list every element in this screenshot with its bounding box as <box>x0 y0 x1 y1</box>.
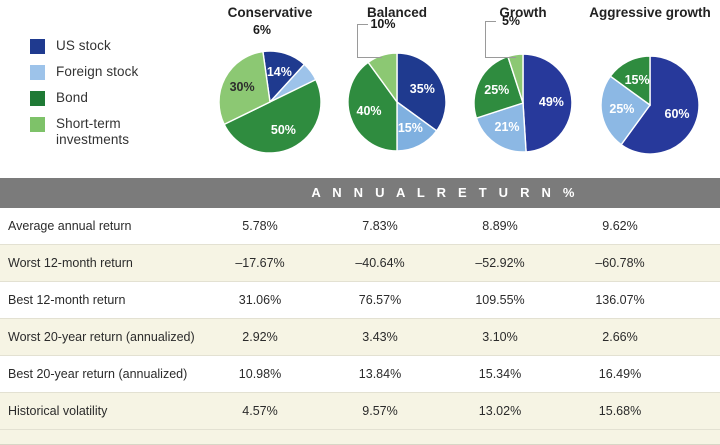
annual-return-table: A N N U A L R E T U R N % Average annual… <box>0 178 720 445</box>
legend-label-short_term: Short-terminvestments <box>56 116 129 148</box>
table-row-label: Best 12-month return <box>0 293 200 307</box>
pie-graphic-2 <box>332 0 462 172</box>
table-cell: 13.84% <box>320 367 440 381</box>
pie-leader-vertical-2 <box>357 24 358 57</box>
table-cell: 136.07% <box>560 293 680 307</box>
table-cell: –17.67% <box>200 256 320 270</box>
legend-label-us_stock: US stock <box>56 38 111 54</box>
pie-graphic-3 <box>458 0 588 172</box>
legend-swatch-us_stock <box>30 39 45 54</box>
pie-graphic-1 <box>205 0 335 172</box>
table-cell: 2.66% <box>560 330 680 344</box>
legend-label-bond: Bond <box>56 90 88 106</box>
legend-swatch-bond <box>30 91 45 106</box>
pie-slice-us-stock <box>523 54 572 152</box>
pie-leader-tip-2 <box>357 57 382 58</box>
table-row: Worst 20-year return (annualized)2.92%3.… <box>0 319 720 356</box>
table-cell: 76.57% <box>320 293 440 307</box>
table-cell: 3.43% <box>320 330 440 344</box>
table-cell: 15.68% <box>560 404 680 418</box>
legend-item-short_term: Short-terminvestments <box>30 116 205 148</box>
table-cell: 31.06% <box>200 293 320 307</box>
table-cell: 13.02% <box>440 404 560 418</box>
table-row-label: Best 20-year return (annualized) <box>0 367 200 381</box>
table-cell: 2.92% <box>200 330 320 344</box>
pie-graphic-4 <box>585 0 715 172</box>
table-cell: 109.55% <box>440 293 560 307</box>
table-row: Average annual return5.78%7.83%8.89%9.62… <box>0 208 720 245</box>
table-cell: 9.57% <box>320 404 440 418</box>
allocation-pie-charts: Conservative14%6%50%30%Balanced35%15%40%… <box>205 0 720 172</box>
table-row: Best 12-month return31.06%76.57%109.55%1… <box>0 282 720 319</box>
table-cell: 4.57% <box>200 404 320 418</box>
allocation-legend: US stockForeign stockBondShort-terminves… <box>30 38 205 158</box>
legend-item-foreign_stock: Foreign stock <box>30 64 205 80</box>
table-row-label: Average annual return <box>0 219 200 233</box>
legend-item-us_stock: US stock <box>30 38 205 54</box>
pie-leader-horizontal-2 <box>357 24 368 25</box>
table-header-title: A N N U A L R E T U R N % <box>0 178 720 208</box>
table-cell: –60.78% <box>560 256 680 270</box>
table-body: Average annual return5.78%7.83%8.89%9.62… <box>0 208 720 430</box>
pie-leader-vertical-3 <box>485 21 486 57</box>
table-cell: 8.89% <box>440 219 560 233</box>
table-footer-strip <box>0 430 720 445</box>
pie-chart-1: Conservative14%6%50%30% <box>205 0 335 172</box>
table-cell: 7.83% <box>320 219 440 233</box>
table-row: Worst 12-month return–17.67%–40.64%–52.9… <box>0 245 720 282</box>
table-header-bar: A N N U A L R E T U R N % <box>0 178 720 208</box>
table-cell: –40.64% <box>320 256 440 270</box>
table-row: Best 20-year return (annualized)10.98%13… <box>0 356 720 393</box>
table-cell: 16.49% <box>560 367 680 381</box>
table-cell: 3.10% <box>440 330 560 344</box>
table-cell: 9.62% <box>560 219 680 233</box>
table-cell: –52.92% <box>440 256 560 270</box>
table-row-label: Worst 12-month return <box>0 256 200 270</box>
pie-chart-2: Balanced35%15%40%10% <box>332 0 462 172</box>
pie-chart-3: Growth49%21%25%5% <box>458 0 588 172</box>
legend-swatch-foreign_stock <box>30 65 45 80</box>
legend-item-bond: Bond <box>30 90 205 106</box>
pie-leader-horizontal-3 <box>485 21 496 22</box>
table-cell: 15.34% <box>440 367 560 381</box>
pie-leader-tip-3 <box>485 57 516 58</box>
table-cell: 10.98% <box>200 367 320 381</box>
table-row-label: Worst 20-year return (annualized) <box>0 330 200 344</box>
pie-chart-4: Aggressive growth60%25%15% <box>585 0 715 172</box>
table-row-label: Historical volatility <box>0 404 200 418</box>
legend-label-foreign_stock: Foreign stock <box>56 64 138 80</box>
table-cell: 5.78% <box>200 219 320 233</box>
table-row: Historical volatility4.57%9.57%13.02%15.… <box>0 393 720 430</box>
legend-swatch-short_term <box>30 117 45 132</box>
